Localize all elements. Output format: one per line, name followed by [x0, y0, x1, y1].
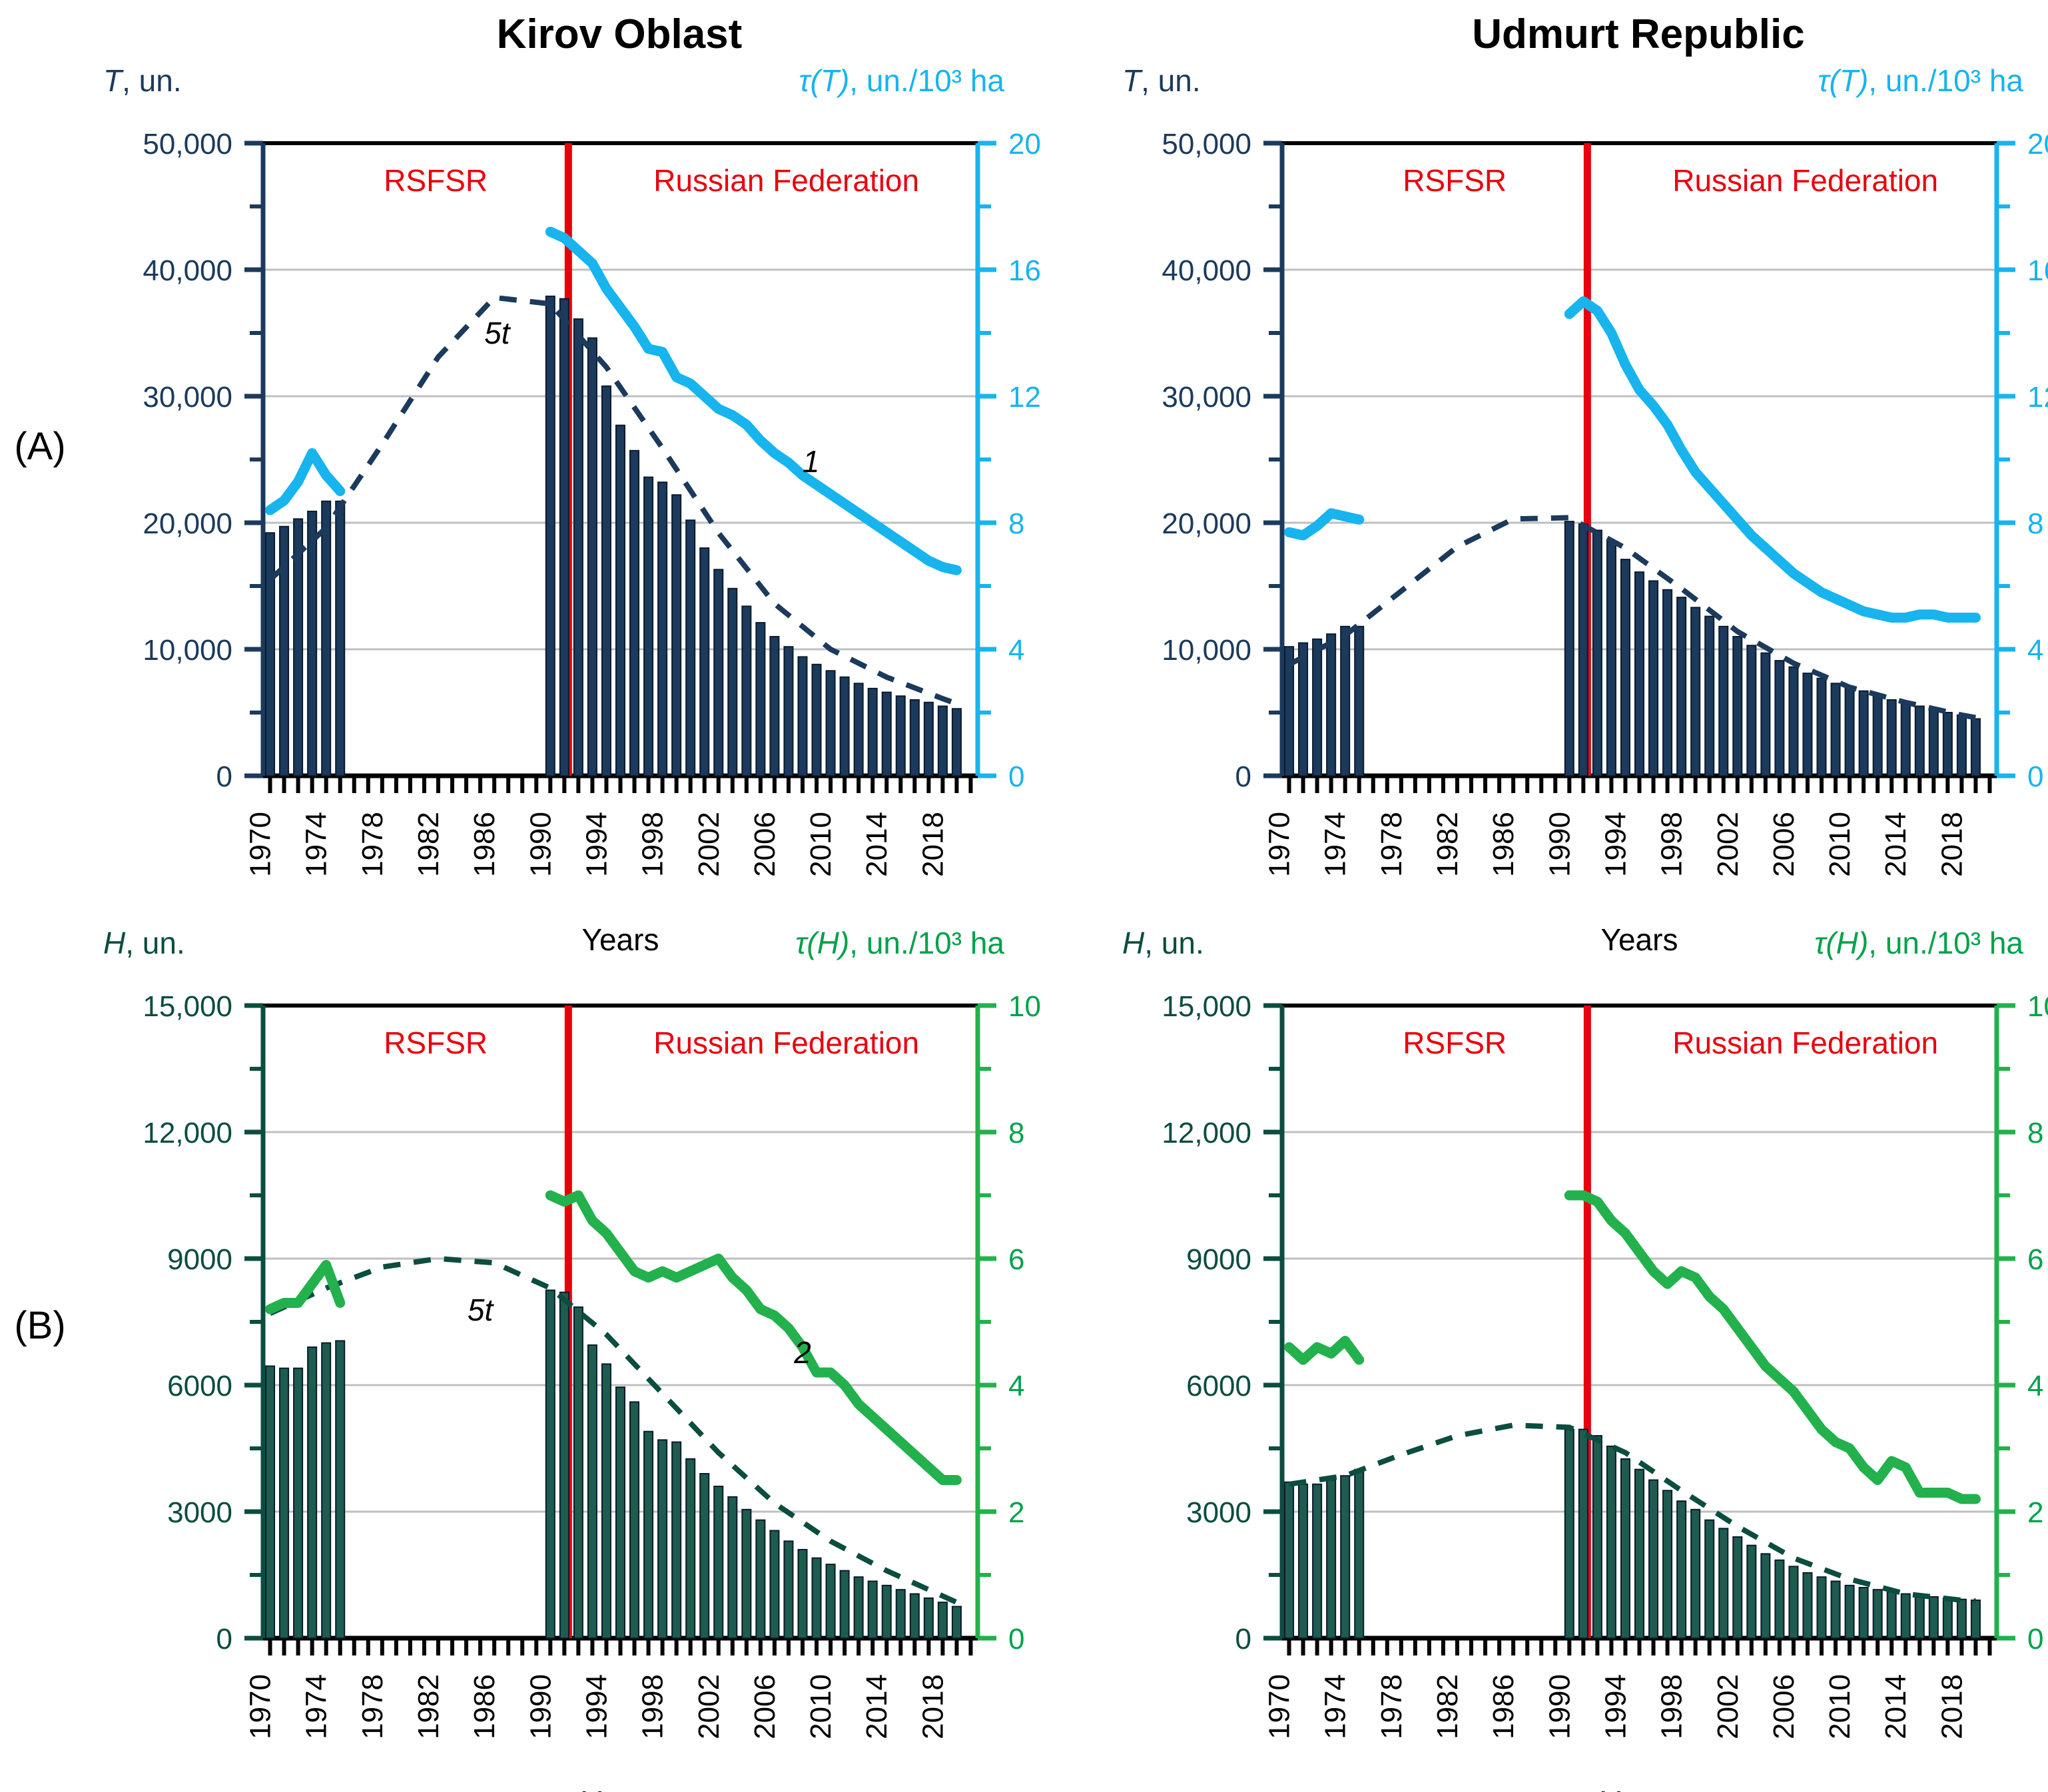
bar	[1943, 713, 1952, 776]
figure-root: Kirov OblastUdmurt Republic(A)(B)010,000…	[0, 0, 2048, 1792]
y-tick-label-right: 16	[1008, 254, 1041, 287]
bar	[784, 1541, 793, 1638]
bar	[882, 1586, 891, 1638]
bar	[1874, 696, 1882, 776]
x-tick-label: 1974	[1319, 812, 1352, 877]
y-tick-label-right: 10	[2027, 990, 2048, 1023]
y-tick-label-left: 20,000	[143, 507, 232, 540]
bar	[1860, 1588, 1868, 1638]
x-tick-label: 2010	[805, 812, 837, 877]
x-tick-label: 1982	[1431, 1674, 1464, 1739]
trend-label-5t: 5t	[468, 1293, 495, 1327]
bar	[1747, 1546, 1756, 1638]
x-tick-label: 2014	[860, 812, 893, 877]
x-tick-label: 1970	[244, 1674, 277, 1739]
y-tick-label-left: 0	[216, 1623, 232, 1655]
y-tick-label-left: 0	[216, 760, 232, 793]
x-tick-label: 1994	[580, 812, 613, 877]
bar	[1971, 1600, 1980, 1638]
bar	[1341, 1476, 1349, 1638]
bar	[910, 1594, 919, 1639]
curve-label-1: 1	[803, 444, 820, 479]
y-tick-label-left: 0	[1235, 1623, 1251, 1655]
bar	[602, 386, 611, 776]
x-tick-label: 2010	[1824, 812, 1856, 877]
bar	[308, 511, 316, 776]
y-axis-right-title: τ(T), un./10³ ha	[1818, 63, 2023, 98]
x-tick-label: 1990	[524, 1674, 557, 1739]
x-tick-label: 1990	[1543, 812, 1576, 877]
bar	[686, 520, 695, 776]
x-tick-label: 2014	[860, 1674, 893, 1739]
bar	[1860, 691, 1868, 776]
x-axis-title: Years	[582, 922, 659, 957]
x-tick-label: 1978	[1375, 1674, 1408, 1739]
bar	[616, 1387, 625, 1638]
bar	[1761, 1554, 1770, 1638]
bar	[770, 637, 779, 776]
bar	[574, 319, 583, 776]
y-tick-label-right: 12	[1008, 381, 1041, 414]
x-tick-label: 2006	[1768, 812, 1800, 877]
bar	[1789, 1566, 1798, 1638]
y-tick-label-left: 12,000	[1162, 1117, 1251, 1149]
bar	[1719, 1528, 1728, 1638]
y-tick-label-left: 3000	[167, 1496, 232, 1529]
bar	[266, 533, 274, 776]
y-tick-label-right: 4	[2027, 634, 2043, 667]
panel-label-b: (B)	[14, 1304, 65, 1347]
y-tick-label-left: 6000	[1186, 1370, 1251, 1402]
tau-line-late	[1569, 1195, 1975, 1499]
bar	[854, 1577, 863, 1638]
bar	[1761, 653, 1770, 776]
x-axis-title: Years	[1601, 1785, 1678, 1792]
y-tick-label-left: 9000	[1186, 1243, 1251, 1276]
bar	[813, 665, 821, 776]
bar	[294, 1368, 302, 1638]
x-tick-label: 1986	[1487, 812, 1520, 877]
bar	[1874, 1590, 1882, 1638]
x-tick-label: 1986	[1487, 1674, 1520, 1739]
bar	[1299, 1484, 1307, 1638]
x-tick-label: 2002	[1712, 812, 1744, 877]
y-axis-right-title: τ(H), un./10³ ha	[1814, 926, 2023, 960]
bar	[896, 1590, 905, 1638]
bar	[742, 606, 751, 776]
y-tick-label-left: 15,000	[143, 990, 232, 1023]
y-tick-label-right: 4	[1008, 634, 1024, 667]
y-axis-left-title: H, un.	[1122, 926, 1204, 960]
x-tick-label: 2006	[749, 1674, 781, 1739]
y-tick-label-left: 0	[1235, 760, 1251, 793]
y-tick-label-left: 20,000	[1162, 507, 1251, 540]
bar	[322, 1343, 330, 1638]
x-tick-label: 1978	[356, 812, 389, 877]
bar	[1705, 1520, 1714, 1638]
bar	[1285, 647, 1293, 776]
bar	[1929, 710, 1938, 776]
x-tick-label: 1974	[300, 812, 333, 877]
y-tick-label-left: 30,000	[143, 381, 232, 414]
x-tick-label: 1970	[244, 812, 277, 877]
trend-curve-5t	[1289, 1425, 1976, 1601]
x-tick-label: 1994	[1599, 1674, 1632, 1739]
y-tick-label-right: 6	[1008, 1243, 1024, 1276]
x-tick-label: 1986	[468, 812, 501, 877]
x-tick-label: 1982	[412, 812, 445, 877]
bar	[1957, 1600, 1966, 1638]
bar	[868, 1582, 877, 1639]
bar	[1929, 1597, 1938, 1638]
bar	[1579, 1430, 1588, 1639]
bar	[1313, 1484, 1321, 1638]
bar	[1775, 661, 1784, 776]
bar	[602, 1364, 611, 1638]
tau-line-early	[270, 1265, 340, 1310]
y-tick-label-left: 6000	[167, 1370, 232, 1402]
bar	[1649, 581, 1658, 776]
bar	[630, 451, 639, 776]
bar	[1355, 1470, 1363, 1638]
x-tick-label: 1974	[300, 1674, 333, 1739]
bar	[714, 569, 723, 776]
bar	[1957, 715, 1966, 776]
bar	[658, 482, 667, 776]
y-tick-label-left: 10,000	[143, 634, 232, 667]
x-tick-label: 2002	[693, 812, 725, 877]
bar	[798, 1550, 807, 1638]
bar	[546, 1291, 555, 1639]
panel-label-a: (A)	[14, 425, 65, 468]
x-tick-label: 1986	[468, 1674, 501, 1739]
bar	[1733, 637, 1742, 776]
tau-line-early	[1289, 513, 1359, 535]
y-tick-label-left: 50,000	[1162, 128, 1251, 160]
bar	[1901, 1594, 1910, 1639]
x-tick-label: 1998	[637, 812, 669, 877]
bar	[336, 1341, 344, 1639]
bar	[1579, 524, 1588, 776]
bar	[686, 1459, 695, 1638]
bar	[1943, 1598, 1952, 1638]
bar	[1635, 1470, 1644, 1638]
bar	[1775, 1560, 1784, 1638]
era-label-rsfsr: RSFSR	[384, 1026, 488, 1060]
bar	[1621, 559, 1630, 776]
bar	[742, 1510, 751, 1638]
y-tick-label-right: 2	[1008, 1496, 1024, 1529]
bar	[574, 1307, 583, 1638]
bar	[896, 696, 905, 776]
bar	[280, 1368, 288, 1638]
bar	[854, 683, 863, 776]
x-axis-title: Years	[582, 1785, 659, 1792]
y-tick-label-left: 10,000	[1162, 634, 1251, 667]
bar	[700, 548, 709, 776]
y-axis-right-title: τ(H), un./10³ ha	[795, 926, 1004, 960]
bar	[1677, 597, 1686, 776]
panel-title-0: Kirov Oblast	[497, 11, 743, 57]
y-tick-label-right: 2	[2027, 1496, 2043, 1529]
bar	[1719, 627, 1728, 776]
bar	[672, 1442, 681, 1639]
bar	[841, 1571, 849, 1638]
bar	[798, 657, 807, 776]
y-tick-label-left: 40,000	[143, 254, 232, 287]
bar	[1607, 1446, 1616, 1638]
y-tick-label-right: 20	[2027, 128, 2048, 160]
bar	[1733, 1537, 1742, 1638]
y-tick-label-right: 0	[1008, 1623, 1024, 1655]
bar	[1691, 607, 1700, 776]
x-tick-label: 1998	[1656, 812, 1688, 877]
bar	[1663, 1490, 1672, 1638]
bar	[588, 1345, 597, 1638]
bar	[1593, 1436, 1602, 1638]
x-tick-label: 2018	[1935, 1674, 1968, 1739]
x-tick-label: 1970	[1263, 1674, 1296, 1739]
bar	[658, 1440, 667, 1638]
bar	[630, 1402, 639, 1638]
bar	[266, 1366, 274, 1639]
bar	[952, 709, 961, 776]
y-tick-label-right: 4	[2027, 1370, 2043, 1402]
x-axis-title: Years	[1601, 922, 1678, 957]
trend-curve-5t	[270, 1259, 957, 1602]
bar	[714, 1486, 723, 1638]
x-tick-label: 2018	[916, 812, 949, 877]
bar	[560, 1293, 569, 1638]
bar	[644, 1432, 653, 1638]
bar	[728, 589, 737, 776]
bar	[1887, 1592, 1896, 1638]
bar	[1649, 1480, 1658, 1639]
bar	[1832, 683, 1840, 776]
bar	[560, 299, 569, 776]
x-tick-label: 1994	[1599, 812, 1632, 877]
y-axis-left-title: T, un.	[103, 63, 182, 98]
x-tick-label: 2014	[1879, 812, 1912, 877]
bar	[1789, 667, 1798, 776]
bar	[280, 527, 288, 776]
bar	[756, 623, 765, 776]
trend-label-5t: 5t	[484, 316, 512, 350]
bar	[616, 426, 625, 776]
y-tick-label-left: 12,000	[143, 1117, 232, 1149]
tau-line-early	[1289, 1341, 1359, 1360]
bar	[644, 477, 653, 776]
bar	[1635, 572, 1644, 776]
bar	[1705, 617, 1714, 776]
y-tick-label-left: 9000	[167, 1243, 232, 1276]
bar	[938, 1602, 947, 1638]
x-tick-label: 2010	[1824, 1674, 1856, 1739]
era-label-rsfsr: RSFSR	[384, 163, 488, 198]
x-tick-label: 2010	[805, 1674, 837, 1739]
bar	[1832, 1582, 1840, 1639]
bar	[1747, 645, 1756, 776]
bar	[1565, 1430, 1574, 1639]
era-label-rsfsr: RSFSR	[1403, 163, 1507, 198]
bar	[1846, 1586, 1854, 1638]
y-axis-left-title: H, un.	[103, 926, 185, 960]
curve-label-2: 2	[793, 1335, 811, 1370]
x-tick-label: 1978	[1375, 812, 1408, 877]
bar	[588, 338, 597, 776]
y-tick-label-left: 40,000	[1162, 254, 1251, 287]
bar	[841, 677, 849, 776]
bar	[813, 1558, 821, 1638]
bar	[770, 1531, 779, 1639]
bar	[827, 671, 835, 776]
bar	[322, 501, 330, 776]
y-tick-label-right: 20	[1008, 128, 1041, 160]
x-tick-label: 2014	[1879, 1674, 1912, 1739]
bar	[1327, 1480, 1335, 1639]
y-tick-label-right: 6	[2027, 1243, 2043, 1276]
y-tick-label-right: 8	[2027, 1117, 2043, 1149]
y-tick-label-right: 16	[2027, 254, 2048, 287]
x-tick-label: 1990	[1543, 1674, 1576, 1739]
era-label-rf: Russian Federation	[1672, 1026, 1938, 1060]
y-tick-label-right: 8	[1008, 507, 1024, 540]
bar	[1803, 1573, 1812, 1638]
y-tick-label-right: 0	[1008, 760, 1024, 793]
y-tick-label-right: 10	[1008, 990, 1041, 1023]
x-tick-label: 1998	[1656, 1674, 1688, 1739]
y-tick-label-left: 15,000	[1162, 990, 1251, 1023]
era-label-rf: Russian Federation	[653, 163, 919, 198]
era-label-rf: Russian Federation	[653, 1026, 919, 1060]
bar	[1607, 542, 1616, 776]
bar	[1593, 530, 1602, 776]
bar	[827, 1564, 835, 1638]
trend-curve-5t	[270, 298, 957, 704]
bar	[1341, 627, 1349, 776]
bar	[952, 1607, 961, 1639]
x-tick-label: 2006	[1768, 1674, 1800, 1739]
bar	[1971, 719, 1980, 776]
y-tick-label-right: 0	[2027, 760, 2043, 793]
bar	[910, 700, 919, 776]
x-tick-label: 1990	[524, 812, 557, 877]
bar	[1285, 1482, 1293, 1638]
bar	[1327, 634, 1335, 776]
x-tick-label: 2002	[693, 1674, 725, 1739]
bar	[700, 1474, 709, 1638]
bar	[756, 1520, 765, 1638]
x-tick-label: 1978	[356, 1674, 389, 1739]
x-tick-label: 2006	[749, 812, 781, 877]
x-tick-label: 1970	[1263, 812, 1296, 877]
x-tick-label: 1982	[412, 1674, 445, 1739]
bar	[1803, 673, 1812, 776]
y-axis-right-title: τ(T), un./10³ ha	[799, 63, 1004, 98]
bar	[882, 693, 891, 776]
y-tick-label-left: 50,000	[143, 128, 232, 160]
bar	[728, 1497, 737, 1638]
x-tick-label: 1974	[1319, 1674, 1352, 1739]
bar	[1677, 1501, 1686, 1638]
bar	[546, 296, 555, 776]
bar	[1846, 687, 1854, 776]
bar	[1817, 679, 1826, 776]
panel-title-1: Udmurt Republic	[1472, 11, 1804, 57]
y-tick-label-right: 0	[2027, 1623, 2043, 1655]
bar	[784, 647, 793, 776]
bar	[1355, 627, 1363, 776]
bar	[938, 707, 947, 776]
figure-canvas: Kirov OblastUdmurt Republic(A)(B)010,000…	[0, 0, 2048, 1792]
bar	[336, 501, 344, 776]
bar	[868, 689, 877, 776]
y-tick-label-right: 8	[1008, 1117, 1024, 1149]
x-tick-label: 1998	[637, 1674, 669, 1739]
bar	[924, 1598, 933, 1638]
y-tick-label-right: 12	[2027, 381, 2048, 414]
x-tick-label: 2018	[1935, 812, 1968, 877]
y-axis-left-title: T, un.	[1122, 63, 1201, 98]
bar	[1901, 704, 1910, 776]
bar	[924, 703, 933, 776]
bar	[1887, 700, 1896, 776]
y-tick-label-right: 4	[1008, 1370, 1024, 1402]
bar	[672, 495, 681, 776]
bar	[1621, 1459, 1630, 1638]
bar	[1663, 590, 1672, 776]
y-tick-label-left: 30,000	[1162, 381, 1251, 414]
bar	[1691, 1510, 1700, 1638]
bar	[1299, 643, 1307, 776]
bar	[1915, 707, 1924, 776]
bar	[1313, 639, 1321, 776]
x-tick-label: 1994	[580, 1674, 613, 1739]
x-tick-label: 2018	[916, 1674, 949, 1739]
era-label-rsfsr: RSFSR	[1403, 1026, 1507, 1060]
bar	[308, 1347, 316, 1638]
x-tick-label: 1982	[1431, 812, 1464, 877]
bar	[1565, 521, 1574, 776]
y-tick-label-right: 8	[2027, 507, 2043, 540]
bar	[1817, 1577, 1826, 1638]
bar	[1915, 1596, 1924, 1638]
era-label-rf: Russian Federation	[1672, 163, 1938, 198]
y-tick-label-left: 3000	[1186, 1496, 1251, 1529]
x-tick-label: 2002	[1712, 1674, 1744, 1739]
